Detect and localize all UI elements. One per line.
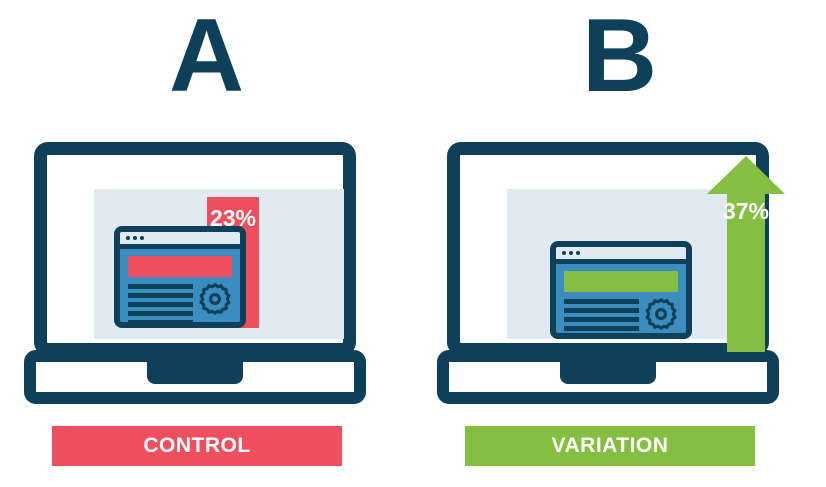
browser-content <box>564 299 678 339</box>
browser-banner <box>128 256 232 277</box>
browser-dot-icon <box>576 251 580 255</box>
browser-dot-icon <box>126 236 130 240</box>
caption-control: CONTROL <box>52 426 342 466</box>
laptop-lid: 37% <box>447 142 769 356</box>
browser-line <box>564 326 639 331</box>
browser-line <box>564 299 639 304</box>
browser-dot-icon <box>133 236 137 240</box>
browser-line <box>128 302 193 307</box>
browser-line <box>564 317 639 322</box>
browser-dot-icon <box>140 236 144 240</box>
metric-arrow-variation <box>707 156 785 352</box>
browser-body <box>120 249 240 322</box>
browser-line <box>564 335 639 339</box>
browser-text-lines <box>564 299 644 339</box>
caption-variation: VARIATION <box>465 426 755 466</box>
browser-text-lines <box>128 284 198 328</box>
browser-window-variation <box>550 241 692 339</box>
variant-letter-b: B <box>413 0 826 112</box>
browser-dot-icon <box>569 251 573 255</box>
browser-dot-icon <box>562 251 566 255</box>
laptop-screen: 23% <box>94 189 344 339</box>
variant-control: A 23% <box>0 0 413 487</box>
browser-titlebar <box>120 232 240 249</box>
laptop-lid: 23% <box>34 142 356 356</box>
browser-titlebar <box>556 247 686 264</box>
browser-content <box>128 284 232 328</box>
browser-line <box>128 293 193 298</box>
laptop-trackpad-notch <box>147 350 243 384</box>
laptop-screen: 37% <box>507 189 757 339</box>
variant-letter-a: A <box>0 0 413 112</box>
browser-body <box>556 264 686 333</box>
browser-line <box>564 308 639 313</box>
browser-window-control <box>114 226 246 328</box>
laptop-trackpad-notch <box>560 350 656 384</box>
gear-icon <box>198 282 232 316</box>
browser-banner <box>564 271 678 292</box>
browser-line <box>128 311 193 316</box>
ab-test-illustration: A 23% <box>0 0 826 487</box>
browser-line <box>128 284 193 289</box>
gear-icon <box>644 297 678 331</box>
variant-variation: B 37% <box>413 0 826 487</box>
metric-value-variation: 37% <box>707 198 785 225</box>
browser-line <box>128 320 193 325</box>
